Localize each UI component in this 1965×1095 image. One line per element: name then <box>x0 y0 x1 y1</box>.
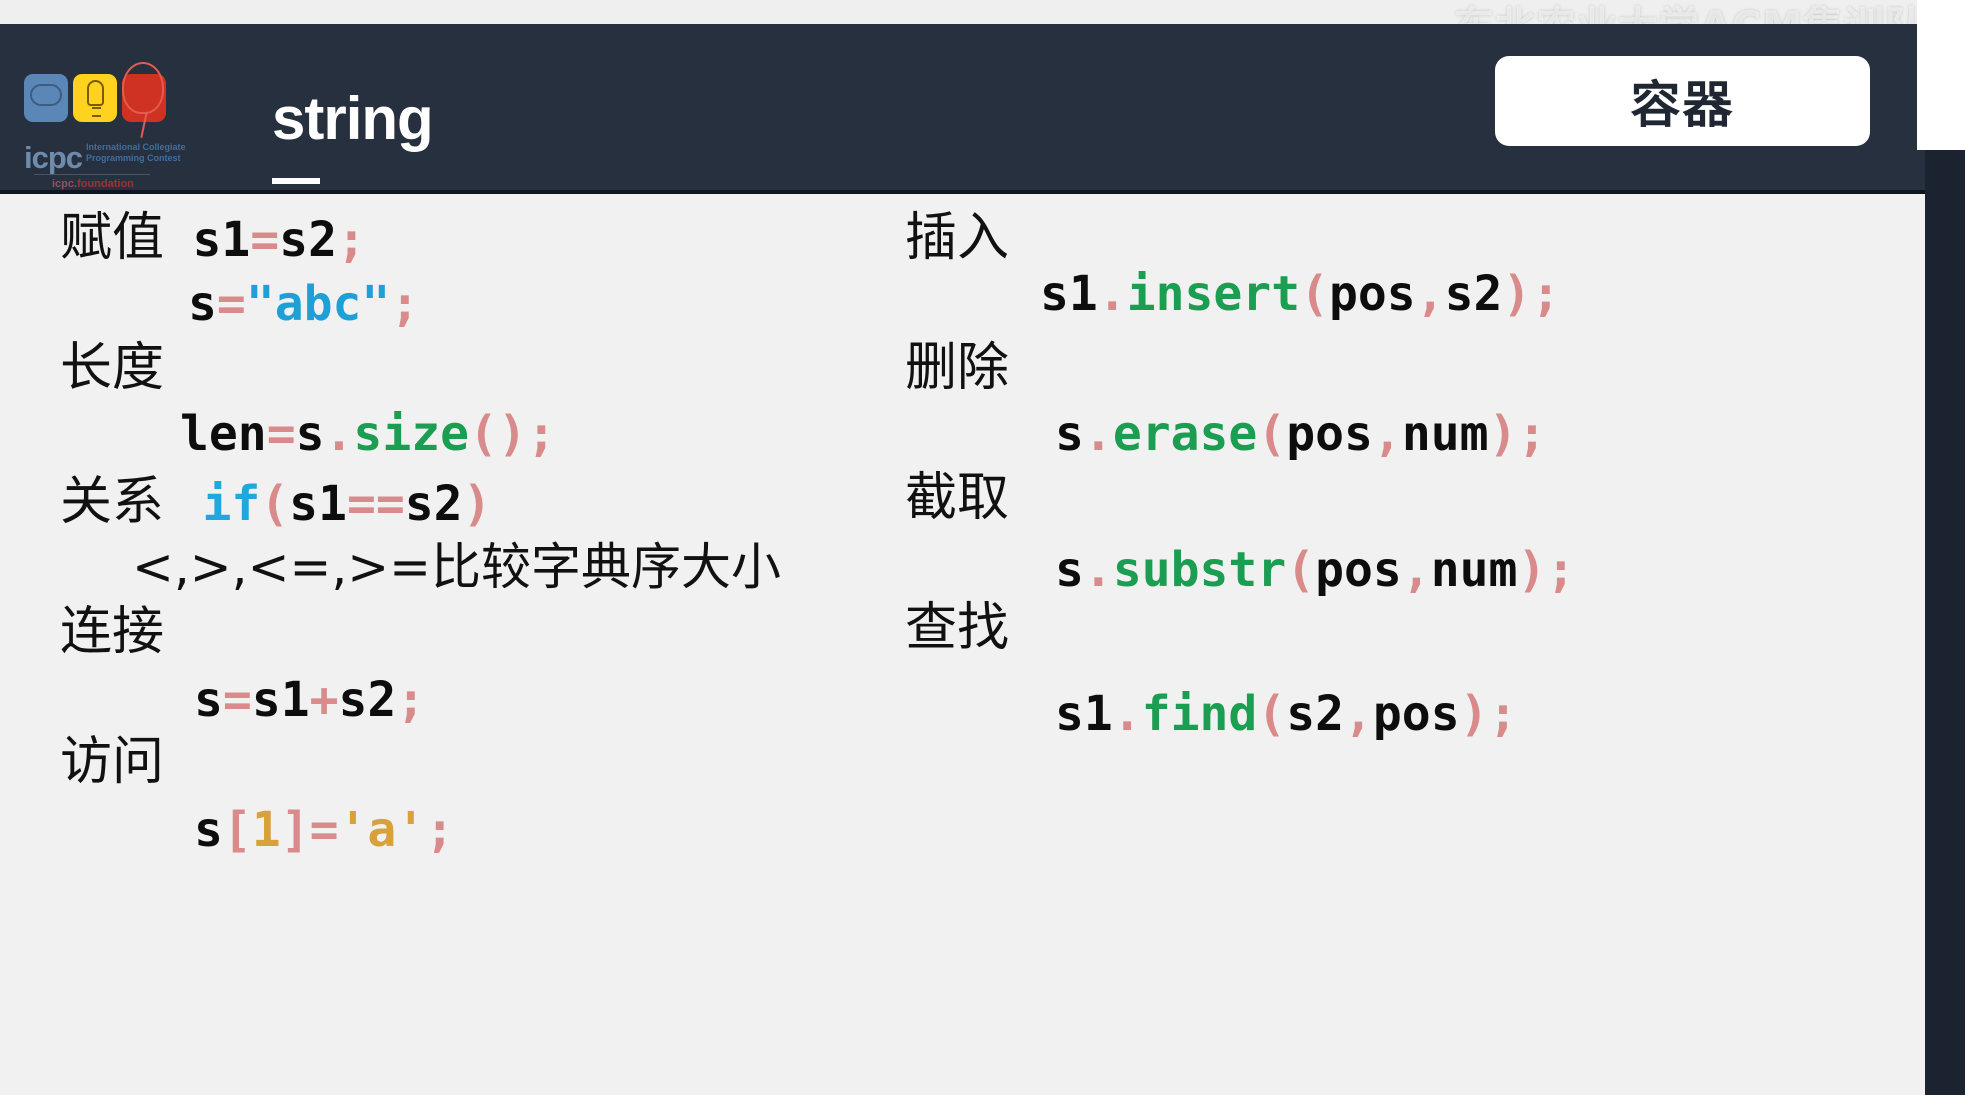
entry-assign-label: 赋值 <box>60 212 164 264</box>
icpc-foundation-prefix: icpc. <box>52 178 77 190</box>
icpc-logo: icpc International Collegiate Programmin… <box>24 56 189 186</box>
code-token: = <box>223 672 252 728</box>
icpc-divider <box>34 174 150 175</box>
code-token: s2 <box>405 476 463 532</box>
entry-relation-label: 关系 <box>60 476 164 528</box>
code-token: ; <box>337 212 366 268</box>
code-token: s <box>188 276 217 332</box>
entry-assign-line2: s="abc"; <box>188 276 419 332</box>
entry-access-line1: s[1]='a'; <box>194 802 454 858</box>
entry-access: 访问 <box>60 736 164 788</box>
entry-concat-label: 连接 <box>60 606 164 658</box>
entry-insert: 插入 <box>905 212 1009 264</box>
code-token: = <box>267 406 296 462</box>
code-token: num <box>1402 406 1489 462</box>
code-token: s <box>296 406 325 462</box>
code-token: 'a' <box>339 802 426 858</box>
entry-find-line1: s1.find(s2,pos); <box>1055 686 1517 742</box>
code-token: insert <box>1127 266 1300 322</box>
code-token: ; <box>527 406 556 462</box>
entry-assign-code-1: s="abc"; <box>188 276 419 332</box>
icpc-subtitle: International Collegiate Programming Con… <box>86 142 186 164</box>
code-token: s1 <box>1055 686 1113 742</box>
code-token: ; <box>396 672 425 728</box>
entry-concat-line1: s=s1+s2; <box>194 672 425 728</box>
code-token: s <box>1055 542 1084 598</box>
code-token: s2 <box>339 672 397 728</box>
entry-erase: 删除 <box>905 342 1009 394</box>
lightbulb-icon <box>87 80 104 106</box>
code-token: s <box>1055 406 1084 462</box>
entry-erase-line1: s.erase(pos,num); <box>1055 406 1546 462</box>
code-token: ) <box>1502 266 1531 322</box>
code-token: . <box>1098 266 1127 322</box>
entry-length-code-0: len=s.size(); <box>180 406 556 462</box>
slide-body: 赋值 s1=s2; s="abc"; 长度 len=s.size(); 关系 i… <box>0 194 1925 1095</box>
code-token: if <box>202 476 260 532</box>
code-token: ) <box>1460 686 1489 742</box>
icpc-tile-blue-icon <box>24 74 68 122</box>
code-token: s2 <box>1445 266 1503 322</box>
code-token: size <box>353 406 469 462</box>
status-badge-label: 容器 <box>1631 65 1735 137</box>
code-token: ; <box>1489 686 1518 742</box>
code-token: . <box>1084 542 1113 598</box>
icpc-foundation-suffix: foundation <box>77 178 134 190</box>
entry-substr-line1: s.substr(pos,num); <box>1055 542 1575 598</box>
code-token: num <box>1431 542 1518 598</box>
code-token: s1 <box>289 476 347 532</box>
icpc-wordmark: icpc <box>24 140 82 176</box>
balloon-icon <box>122 62 164 114</box>
code-token: = <box>217 276 246 332</box>
code-token: substr <box>1113 542 1286 598</box>
code-token: = <box>250 212 279 268</box>
code-token: , <box>1373 406 1402 462</box>
code-token: s1 <box>252 672 310 728</box>
code-token: () <box>469 406 527 462</box>
code-token: pos <box>1373 686 1460 742</box>
code-token: ; <box>1546 542 1575 598</box>
entry-length-line1: len=s.size(); <box>180 406 556 462</box>
code-token: + <box>310 672 339 728</box>
code-token: pos <box>1329 266 1416 322</box>
code-token: s1 <box>192 212 250 268</box>
right-gutter <box>1925 0 1965 1095</box>
code-token: s <box>194 672 223 728</box>
code-token: . <box>1084 406 1113 462</box>
entry-erase-code-0: s.erase(pos,num); <box>1055 406 1546 462</box>
code-token: pos <box>1315 542 1402 598</box>
entry-relation-note-text: <,>,<=,>=比较字典序大小 <box>132 538 781 596</box>
entry-concat-code-0: s=s1+s2; <box>194 672 425 728</box>
cloud-icon <box>30 84 62 106</box>
entry-access-label: 访问 <box>60 736 164 788</box>
code-token: ( <box>1286 542 1315 598</box>
code-token: s <box>194 802 223 858</box>
code-token: ; <box>1531 266 1560 322</box>
entry-insert-label: 插入 <box>905 212 1009 264</box>
code-token: s2 <box>279 212 337 268</box>
entry-relation-code: if(s1==s2) <box>202 476 491 532</box>
code-token: "abc" <box>246 276 391 332</box>
code-token: ) <box>463 476 492 532</box>
right-gutter-top <box>1925 0 1965 150</box>
code-token: ] <box>281 802 310 858</box>
code-token: , <box>1344 686 1373 742</box>
entry-find: 查找 <box>905 602 1009 654</box>
icpc-foundation-label: icpc.foundation <box>52 178 134 190</box>
code-token: find <box>1142 686 1258 742</box>
entry-concat: 连接 <box>60 606 164 658</box>
code-token: ; <box>425 802 454 858</box>
entry-insert-code-0: s1.insert(pos,s2); <box>1040 266 1560 322</box>
icpc-logo-tiles <box>24 74 174 134</box>
code-token: s2 <box>1286 686 1344 742</box>
code-token: len <box>180 406 267 462</box>
code-token: ) <box>1489 406 1518 462</box>
entry-insert-line1: s1.insert(pos,s2); <box>1040 266 1560 322</box>
code-token: = <box>310 802 339 858</box>
code-token: ) <box>1517 542 1546 598</box>
code-token: , <box>1402 542 1431 598</box>
slide-root: 东北农业大学ACM集训队 icpc International Collegia… <box>0 0 1965 1095</box>
code-token: ( <box>1257 406 1286 462</box>
code-token: ( <box>260 476 289 532</box>
code-token: . <box>325 406 354 462</box>
status-badge: 容器 <box>1495 56 1870 146</box>
entry-substr-code-0: s.substr(pos,num); <box>1055 542 1575 598</box>
entry-find-label: 查找 <box>905 602 1009 654</box>
code-token: s1 <box>1040 266 1098 322</box>
page-title: string <box>272 84 433 153</box>
entry-substr-label: 截取 <box>905 472 1009 524</box>
entry-erase-label: 删除 <box>905 342 1009 394</box>
code-token: . <box>1113 686 1142 742</box>
entry-find-code-0: s1.find(s2,pos); <box>1055 686 1517 742</box>
entry-relation-note: <,>,<=,>=比较字典序大小 <box>132 542 781 592</box>
code-token: pos <box>1286 406 1373 462</box>
entry-assign-code-0: s1=s2; <box>192 212 365 268</box>
code-token: 1 <box>252 802 281 858</box>
entry-relation: 关系 if(s1==s2) <box>60 476 491 532</box>
code-token: erase <box>1113 406 1258 462</box>
entry-length-label: 长度 <box>60 342 164 394</box>
code-token: == <box>347 476 405 532</box>
entry-assign: 赋值 s1=s2; <box>60 212 366 268</box>
title-underline <box>272 178 320 184</box>
code-token: [ <box>223 802 252 858</box>
entry-access-code-0: s[1]='a'; <box>194 802 454 858</box>
entry-length: 长度 <box>60 342 164 394</box>
code-token: , <box>1416 266 1445 322</box>
code-token: ; <box>1517 406 1546 462</box>
code-token: ( <box>1257 686 1286 742</box>
entry-substr: 截取 <box>905 472 1009 524</box>
code-token: ; <box>390 276 419 332</box>
code-token: ( <box>1300 266 1329 322</box>
